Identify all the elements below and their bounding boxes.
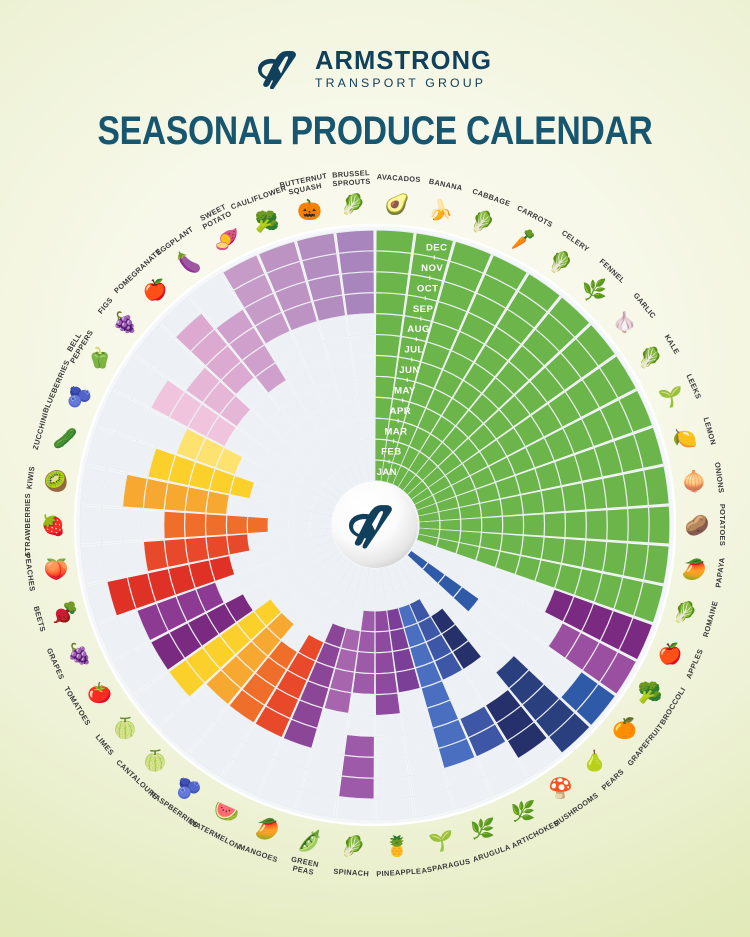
produce-legend-item[interactable]: MANGOES	[238, 842, 279, 864]
produce-label: LEEKS	[685, 373, 704, 401]
celery-icon: 🥬	[548, 250, 573, 274]
produce-wheel-container: JANFEBMARAPRMAYJUNJULAUGSEPOCTNOVDEC 🥑AV…	[0, 155, 750, 915]
month-cell[interactable]	[503, 516, 523, 535]
brand-text: ARMSTRONG TRANSPORT GROUP	[315, 49, 492, 90]
watermelon-icon: 🍉	[214, 801, 239, 823]
month-label: FEB	[381, 447, 401, 458]
month-cell[interactable]	[342, 272, 374, 294]
produce-legend-item[interactable]: ROMAINE	[701, 600, 720, 638]
month-cell[interactable]	[350, 694, 374, 715]
month-cell[interactable]	[583, 541, 606, 571]
month-cell[interactable]	[542, 537, 565, 562]
month-cell[interactable]	[376, 756, 408, 778]
produce-legend-item[interactable]: LEEKS	[685, 373, 704, 401]
month-cell[interactable]	[628, 508, 648, 542]
page-title: SEASONAL PRODUCE CALENDAR	[60, 109, 690, 154]
month-cell[interactable]	[376, 335, 400, 356]
leek-icon: 🌱	[658, 386, 683, 409]
month-label: APR	[390, 406, 411, 417]
produce-legend-item[interactable]: KALE	[663, 333, 682, 356]
produce-legend-item[interactable]: BEETS	[32, 605, 48, 633]
month-cell[interactable]	[376, 652, 395, 673]
month-cell[interactable]	[164, 512, 184, 539]
produce-label: ASPARAGUS	[421, 857, 472, 876]
produce-label: ARUGULA	[472, 842, 512, 864]
armstrong-a-swoosh-icon	[258, 49, 304, 89]
asparagus-icon: 🌱	[428, 829, 453, 852]
green-peas-icon: 🫛	[297, 828, 322, 852]
banana-icon: 🍌	[428, 198, 453, 222]
month-cell[interactable]	[376, 735, 405, 757]
month-cell[interactable]	[102, 508, 122, 542]
month-cell[interactable]	[521, 536, 543, 559]
fig-icon: 🍇	[113, 310, 138, 334]
month-cell[interactable]	[376, 714, 403, 735]
peach-icon: 🍑	[44, 557, 69, 581]
month-cell[interactable]	[311, 521, 331, 529]
eggplant-icon: 🍆	[177, 250, 202, 274]
produce-label: CAULIFLOWER	[230, 183, 288, 211]
cabbage-icon: 🥬	[470, 210, 495, 234]
produce-label: ZUCCHINI	[31, 412, 50, 451]
month-cell[interactable]	[165, 483, 188, 511]
garlic-icon: 🧄	[612, 310, 637, 334]
cantaloupe-icon: 🍈	[143, 748, 168, 772]
month-cell[interactable]	[144, 541, 167, 571]
produce-legend-item[interactable]: BANANA	[428, 177, 464, 193]
produce-label: BANANA	[428, 177, 464, 193]
artichoke-icon: 🌿	[511, 799, 536, 823]
produce-legend-item[interactable]: BUTTERNUTSQUASH	[279, 171, 330, 198]
produce-label: CELERY	[560, 228, 591, 254]
month-label: SEP	[413, 304, 434, 315]
month-cell[interactable]	[376, 252, 410, 274]
month-cell[interactable]	[562, 539, 585, 567]
month-cell[interactable]	[376, 377, 395, 398]
produce-legend-item[interactable]: PAPAYA	[714, 556, 727, 588]
month-label: MAY	[394, 385, 416, 396]
produce-legend-item[interactable]: CARROTS	[516, 203, 555, 229]
apple-icon: 🍎	[658, 641, 683, 665]
produce-legend-item[interactable]: KIWIS	[25, 466, 37, 490]
beet-icon: 🫜	[52, 599, 77, 624]
produce-label: KALE	[663, 333, 682, 356]
month-cell[interactable]	[186, 487, 209, 512]
month-cell[interactable]	[356, 377, 375, 398]
wheel-hub	[332, 482, 418, 568]
produce-legend-item[interactable]: ARUGULA	[472, 842, 512, 864]
produce-label: STRAWBERRIES	[23, 493, 32, 557]
month-cell[interactable]	[545, 513, 565, 537]
pear-icon: 🍐	[582, 748, 607, 772]
month-cell[interactable]	[482, 517, 502, 533]
cauliflower-icon: 🥦	[255, 210, 280, 234]
month-cell[interactable]	[358, 631, 374, 652]
broccoli-icon: 🥦	[638, 680, 663, 704]
arugula-icon: 🌿	[470, 816, 495, 840]
month-cell[interactable]	[562, 483, 585, 511]
month-label: DEC	[426, 243, 447, 254]
produce-legend-item[interactable]: GRAPES	[45, 647, 67, 681]
tomato-icon: 🍅	[87, 680, 112, 704]
lemon-icon: 🍋	[673, 428, 698, 450]
month-cell[interactable]	[607, 509, 627, 541]
mushroom-icon: 🍄	[548, 776, 573, 800]
produce-legend-item[interactable]: CELERY	[560, 228, 591, 254]
month-cell[interactable]	[144, 479, 167, 509]
produce-label: LEMON	[702, 416, 718, 446]
month-cell[interactable]	[122, 509, 142, 541]
month-cell[interactable]	[342, 756, 374, 778]
strawberry-icon: 🍓	[41, 513, 66, 537]
produce-legend-item[interactable]: SWEETPOTATO	[197, 201, 233, 231]
month-cell[interactable]	[356, 652, 375, 673]
brand-subtitle: TRANSPORT GROUP	[315, 77, 492, 89]
raspberry-icon: 🫐	[177, 776, 202, 800]
month-cell[interactable]	[649, 506, 669, 543]
produce-label: GRAPES	[45, 647, 67, 681]
month-cell[interactable]	[336, 231, 373, 253]
papaya-icon: 🥭	[682, 557, 707, 581]
produce-legend-item[interactable]: POTATOES	[718, 504, 727, 546]
month-cell[interactable]	[347, 314, 374, 335]
mango-icon: 🥭	[255, 816, 280, 840]
carrot-icon: 🥕	[511, 228, 536, 251]
grapefruit-icon: 🍊	[612, 716, 638, 740]
produce-label: POTATOES	[718, 504, 727, 546]
produce-label: BEETS	[32, 605, 48, 633]
bell-pepper-icon: 🫑	[87, 346, 112, 370]
grapes-icon: 🍇	[67, 641, 92, 665]
month-cell[interactable]	[376, 314, 403, 335]
kale-icon: 🥬	[638, 346, 663, 370]
month-cell[interactable]	[524, 514, 544, 535]
produce-legend-item[interactable]: SPINACH	[333, 867, 369, 878]
month-cell[interactable]	[81, 506, 101, 543]
month-cell[interactable]	[269, 518, 289, 531]
month-cell[interactable]	[336, 797, 373, 819]
month-cell[interactable]	[227, 516, 247, 535]
month-cell[interactable]	[207, 492, 229, 515]
month-label: AUG	[407, 324, 430, 335]
month-cell[interactable]	[587, 510, 607, 539]
month-cell[interactable]	[345, 735, 374, 757]
page-header: ARMSTRONG TRANSPORT GROUP SEASONAL PRODU…	[0, 0, 750, 154]
month-label: JUN	[399, 365, 419, 376]
month-cell[interactable]	[376, 673, 397, 694]
month-cell[interactable]	[185, 513, 205, 537]
month-cell[interactable]	[376, 293, 405, 315]
month-cell[interactable]	[350, 335, 374, 356]
potato-icon: 🥔	[685, 513, 710, 537]
month-cell[interactable]	[339, 777, 373, 799]
month-label: JAN	[377, 467, 397, 478]
month-cell[interactable]	[376, 631, 392, 652]
month-cell[interactable]	[461, 518, 481, 531]
produce-label: CABBAGE	[471, 186, 512, 208]
produce-legend-item[interactable]: STRAWBERRIES	[23, 493, 32, 557]
month-cell[interactable]	[165, 539, 188, 567]
month-cell[interactable]	[376, 231, 413, 253]
month-cell[interactable]	[376, 777, 410, 799]
month-cell[interactable]	[376, 356, 397, 377]
produce-label: PINEAPPLE	[376, 866, 422, 878]
month-cell[interactable]	[376, 272, 408, 294]
brussel-sprouts-icon: 🥬	[341, 192, 366, 216]
fennel-icon: 🌿	[582, 278, 607, 302]
month-cell[interactable]	[290, 520, 310, 531]
pineapple-icon: 🍍	[385, 834, 410, 858]
seasonal-produce-wheel: JANFEBMARAPRMAYJUNJULAUGSEPOCTNOVDEC 🥑AV…	[0, 155, 750, 915]
month-cell[interactable]	[339, 252, 373, 274]
zucchini-icon: 🥒	[52, 427, 77, 450]
produce-label: CARROTS	[516, 203, 555, 229]
brand-lockup: ARMSTRONG TRANSPORT GROUP	[0, 46, 750, 92]
pomegranate-icon: 🍎	[143, 278, 168, 302]
month-cell[interactable]	[353, 356, 374, 377]
month-cell[interactable]	[207, 536, 229, 559]
produce-legend-item[interactable]: ARTICHOKES	[510, 818, 561, 850]
blueberry-icon: 🫐	[67, 385, 92, 409]
produce-legend-item[interactable]: CABBAGE	[471, 186, 512, 208]
month-cell[interactable]	[521, 492, 543, 515]
lime-icon: 🍈	[113, 716, 138, 740]
month-label: OCT	[417, 283, 438, 294]
month-cell[interactable]	[186, 537, 209, 562]
month-cell[interactable]	[353, 673, 374, 694]
avocado-icon: 🥑	[385, 191, 410, 216]
produce-legend-item[interactable]: ONIONS	[713, 462, 726, 494]
brand-name: ARMSTRONG	[315, 49, 492, 75]
month-label: JUL	[404, 345, 423, 356]
month-cell[interactable]	[345, 293, 374, 315]
produce-legend-item[interactable]: PEACHES	[23, 553, 37, 592]
produce-label: ROMAINE	[701, 600, 720, 638]
month-label: NOV	[421, 263, 443, 274]
produce-legend-item[interactable]: ZUCCHINI	[31, 412, 50, 451]
month-cell[interactable]	[248, 517, 268, 533]
produce-legend-item[interactable]: AVACADOS	[376, 172, 421, 184]
produce-legend-item[interactable]: CAULIFLOWER	[230, 183, 288, 211]
month-cell[interactable]	[206, 514, 226, 535]
sweet-potato-icon: 🍠	[214, 227, 239, 251]
produce-legend-item[interactable]: ASPARAGUS	[421, 857, 472, 876]
month-cell[interactable]	[347, 714, 374, 735]
kiwi-icon: 🥝	[44, 468, 69, 493]
month-cell[interactable]	[566, 512, 586, 539]
produce-label: APPLES	[684, 647, 705, 680]
produce-label: ARTICHOKES	[510, 818, 561, 850]
month-cell[interactable]	[143, 510, 163, 539]
produce-label: KIWIS	[25, 466, 37, 490]
produce-legend-item[interactable]: APPLES	[684, 647, 705, 680]
month-cell[interactable]	[583, 479, 606, 509]
produce-label: MANGOES	[238, 842, 279, 864]
month-cell[interactable]	[440, 520, 460, 531]
produce-label: PEACHES	[23, 553, 37, 592]
produce-label: PAPAYA	[714, 556, 727, 588]
produce-label: SPINACH	[333, 867, 369, 878]
produce-legend-item[interactable]: LEMON	[702, 416, 718, 446]
spinach-icon: 🥬	[341, 834, 366, 858]
produce-label: SPROUTS	[332, 177, 371, 189]
romaine-lettuce-icon: 🥬	[673, 600, 698, 624]
produce-legend-item[interactable]: BRUSSELSPROUTS	[332, 168, 371, 188]
produce-legend-item[interactable]: GREENPEAS	[289, 855, 320, 878]
produce-legend-item[interactable]: PINEAPPLE	[376, 866, 422, 878]
month-cell[interactable]	[376, 694, 400, 715]
produce-label: ONIONS	[713, 462, 726, 494]
month-cell[interactable]	[376, 797, 413, 819]
butternut-squash-icon: 🎃	[297, 198, 322, 222]
month-cell[interactable]	[542, 487, 565, 512]
month-label: MAR	[384, 426, 407, 437]
month-cell[interactable]	[420, 521, 440, 529]
month-cell[interactable]	[358, 398, 374, 419]
produce-label: AVACADOS	[376, 172, 421, 184]
onion-icon: 🧅	[682, 469, 707, 493]
